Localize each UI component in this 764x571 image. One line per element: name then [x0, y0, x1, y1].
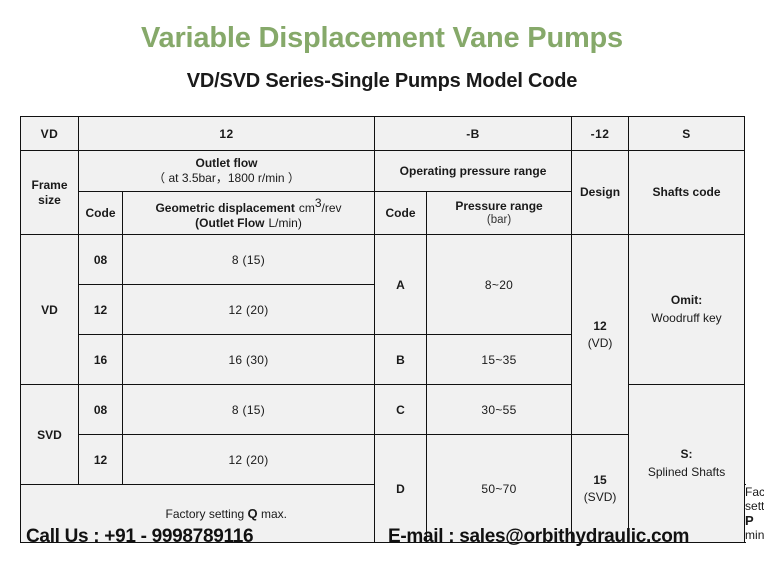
flow-code: 08: [79, 385, 123, 435]
shafts-splined-desc: Splined Shafts: [648, 465, 725, 479]
shafts-splined-label: S:: [681, 447, 693, 461]
header-row-group-titles: Frame size Outlet flow （ at 3.5bar，1800 …: [21, 151, 745, 192]
pressure-range: 30~55: [427, 385, 572, 435]
table-row: SVD 08 8 (15) C 30~55 S: Splined Shafts: [21, 385, 745, 435]
email-address[interactable]: E-mail : sales@orbithydraulic.com: [388, 526, 689, 548]
geo-disp-text: Geometric displacement: [155, 201, 294, 215]
model-code-page: Variable Displacement Vane Pumps VD/SVD …: [0, 0, 764, 571]
pressure-range: 15~35: [427, 335, 572, 385]
footer-pressure-prefix: Factory setting: [745, 485, 764, 513]
band-shafts-code: S: [629, 117, 745, 151]
shafts-omit-label: Omit:: [671, 293, 702, 307]
shafts-omit-cell: Omit: Woodruff key: [629, 235, 745, 385]
band-flow-code: 12: [79, 117, 375, 151]
page-subtitle: VD/SVD Series-Single Pumps Model Code: [0, 70, 764, 93]
phone-number[interactable]: Call Us : +91 - 9998789116: [26, 526, 253, 548]
flow-displacement: 12 (20): [123, 285, 375, 335]
model-code-table: VD 12 -B -12 S Frame size Outlet flow （ …: [20, 116, 745, 543]
contact-bar: Call Us : +91 - 9998789116 E-mail : sale…: [0, 526, 764, 560]
footer-flow-prefix: Factory setting: [166, 507, 248, 521]
pressure-code: A: [375, 235, 427, 335]
flow-displacement: 16 (30): [123, 335, 375, 385]
geo-disp-outlet-unit: L/min): [269, 216, 302, 230]
design-note-svd: (SVD): [572, 489, 628, 505]
geo-disp-outlet-flow: (Outlet Flow: [195, 216, 264, 230]
header-pressure-range-unit: (bar): [427, 213, 571, 227]
header-outlet-flow-condition: （ at 3.5bar，1800 r/min ）: [79, 171, 374, 186]
header-operating-pressure-range: Operating pressure range: [375, 151, 572, 192]
header-flow-code: Code: [79, 192, 123, 235]
footer-flow-symbol: Q: [248, 506, 258, 521]
flow-displacement: 8 (15): [123, 385, 375, 435]
flow-code: 12: [79, 285, 123, 335]
flow-displacement: 12 (20): [123, 435, 375, 485]
header-pressure-range: Pressure range (bar): [427, 192, 572, 235]
design-value-vd: 12 (VD): [572, 235, 629, 435]
design-note-vd: (VD): [572, 335, 628, 351]
header-geometric-displacement: Geometric displacementcm3/rev (Outlet Fl…: [123, 192, 375, 235]
pressure-code: C: [375, 385, 427, 435]
header-frame-size-label: Frame size: [31, 178, 67, 207]
band-pressure-code: -B: [375, 117, 572, 151]
footer-flow-suffix: max.: [258, 507, 287, 521]
band-design-code: -12: [572, 117, 629, 151]
design-number-vd: 12: [593, 319, 606, 333]
flow-displacement: 8 (15): [123, 235, 375, 285]
flow-code: 12: [79, 435, 123, 485]
header-pressure-range-title: Pressure range: [427, 199, 571, 214]
frame-size-vd: VD: [21, 235, 79, 385]
geo-disp-unit-exp: 3: [315, 196, 322, 210]
header-pressure-code: Code: [375, 192, 427, 235]
header-frame-size: Frame size: [21, 151, 79, 235]
frame-size-svd: SVD: [21, 385, 79, 485]
pressure-range: 8~20: [427, 235, 572, 335]
flow-code: 08: [79, 235, 123, 285]
header-design: Design: [572, 151, 629, 235]
shafts-omit-desc: Woodruff key: [651, 311, 721, 325]
shafts-splined-cell: S: Splined Shafts: [629, 385, 745, 543]
page-title: Variable Displacement Vane Pumps: [0, 22, 764, 55]
header-shafts-code: Shafts code: [629, 151, 745, 235]
header-outlet-flow-title: Outlet flow: [79, 156, 374, 171]
pressure-code: B: [375, 335, 427, 385]
table-row: VD 08 8 (15) A 8~20 12 (VD) Omit: Woodru…: [21, 235, 745, 285]
model-code-band-row: VD 12 -B -12 S: [21, 117, 745, 151]
geo-disp-unit-cm: cm: [299, 201, 315, 215]
design-number-svd: 15: [593, 473, 606, 487]
header-outlet-flow: Outlet flow （ at 3.5bar，1800 r/min ）: [79, 151, 375, 192]
geo-disp-unit-rev: /rev: [322, 201, 342, 215]
flow-code: 16: [79, 335, 123, 385]
band-frame-code: VD: [21, 117, 79, 151]
